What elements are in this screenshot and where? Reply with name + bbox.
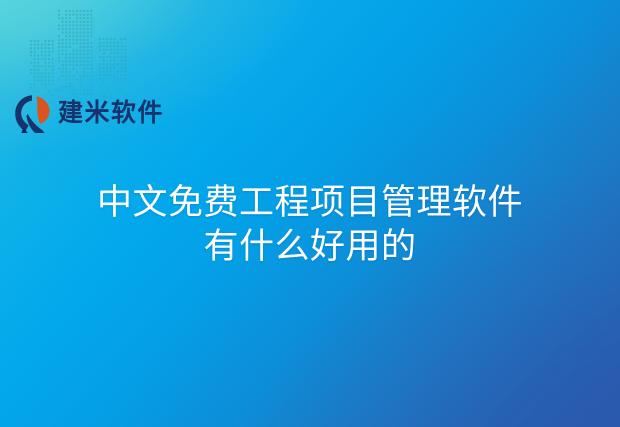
brand-logo: 建米软件 [14, 94, 164, 134]
pixel-city-decoration [0, 0, 170, 105]
headline-line-1: 中文免费工程项目管理软件 [0, 181, 620, 225]
banner-headline: 中文免费工程项目管理软件 有什么好用的 [0, 181, 620, 269]
promo-banner: 建米软件 中文免费工程项目管理软件 有什么好用的 [0, 0, 620, 427]
headline-line-2: 有什么好用的 [0, 225, 620, 269]
brand-wordmark: 建米软件 [58, 101, 164, 126]
jianmi-leaf-mark-icon [14, 94, 52, 134]
